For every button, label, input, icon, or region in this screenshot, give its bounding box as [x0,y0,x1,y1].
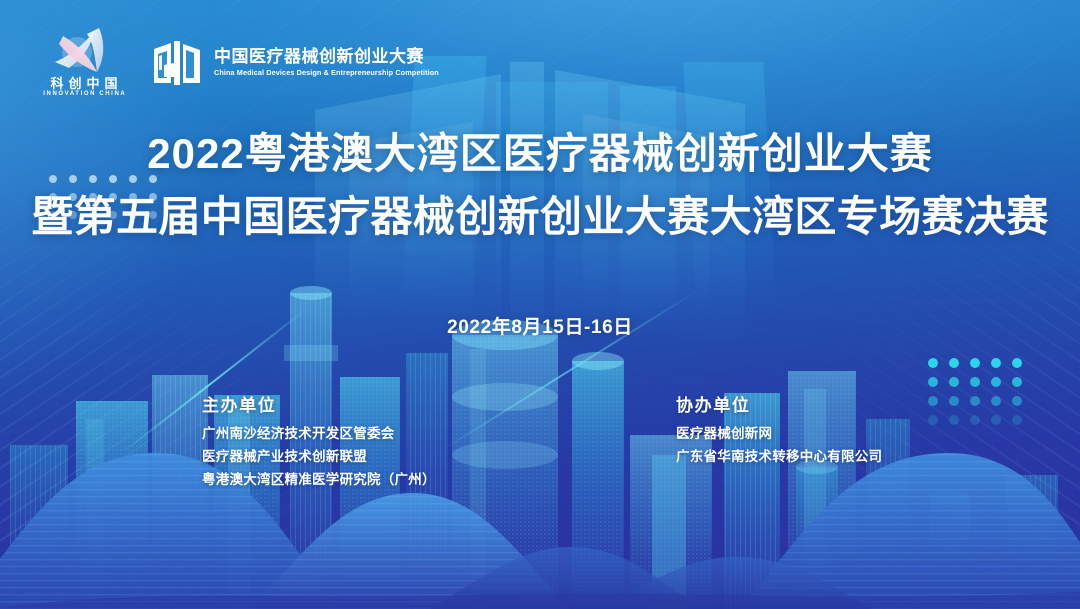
logo-innovation-china[interactable]: 科创中国 INNOVATION CHINA [38,26,130,99]
organizer-cohost-item: 广东省华南技术转移中心有限公司 [676,449,882,466]
logo-innovation-china-cn: 科创中国 [45,77,122,91]
butterfly-mark-icon [47,26,121,76]
organizer-block-cohost: 协办单位 医疗器械创新网 广东省华南技术转移中心有限公司 [676,391,882,466]
organizer-host-item: 粤港澳大湾区精准医学研究院（广州） [202,472,436,489]
logo-bar: 科创中国 INNOVATION CHINA [38,26,446,99]
organizer-cohost-list: 医疗器械创新网 广东省华南技术转移中心有限公司 [676,426,882,466]
logo-cmdc-cn: 中国医疗器械创新创业大赛 [214,48,446,67]
poster-title-line-1: 2022粤港澳大湾区医疗器械创新创业大赛 [0,128,1080,179]
organizer-host-item: 医疗器械产业技术创新联盟 [202,449,436,466]
logo-innovation-china-en: INNOVATION CHINA [42,91,127,99]
poster-content: 科创中国 INNOVATION CHINA [0,0,1080,609]
organizer-block-host: 主办单位 广州南沙经济技术开发区管委会 医疗器械产业技术创新联盟 粤港澳大湾区精… [202,391,436,489]
poster-title-line-2: 暨第五届中国医疗器械创新创业大赛大湾区专场赛决赛 [0,191,1080,242]
organizer-cohost-item: 医疗器械创新网 [676,426,882,443]
organizer-host-item: 广州南沙经济技术开发区管委会 [202,426,436,443]
title-block: 2022粤港澳大湾区医疗器械创新创业大赛 暨第五届中国医疗器械创新创业大赛大湾区… [0,128,1080,242]
organizer-host-heading: 主办单位 [202,391,436,416]
logo-cmdc[interactable]: 中国医疗器械创新创业大赛 China Medical Devices Desig… [152,39,446,87]
event-date: 2022年8月15日-16日 [0,312,1080,339]
open-book-mark-icon [152,39,202,87]
organizer-cohost-heading: 协办单位 [676,391,882,416]
organizer-host-list: 广州南沙经济技术开发区管委会 医疗器械产业技术创新联盟 粤港澳大湾区精准医学研究… [202,426,436,489]
event-poster: 科创中国 INNOVATION CHINA [0,0,1080,609]
logo-cmdc-en: China Medical Devices Design & Entrepren… [214,69,439,77]
logo-cmdc-text: 中国医疗器械创新创业大赛 China Medical Devices Desig… [214,48,446,78]
